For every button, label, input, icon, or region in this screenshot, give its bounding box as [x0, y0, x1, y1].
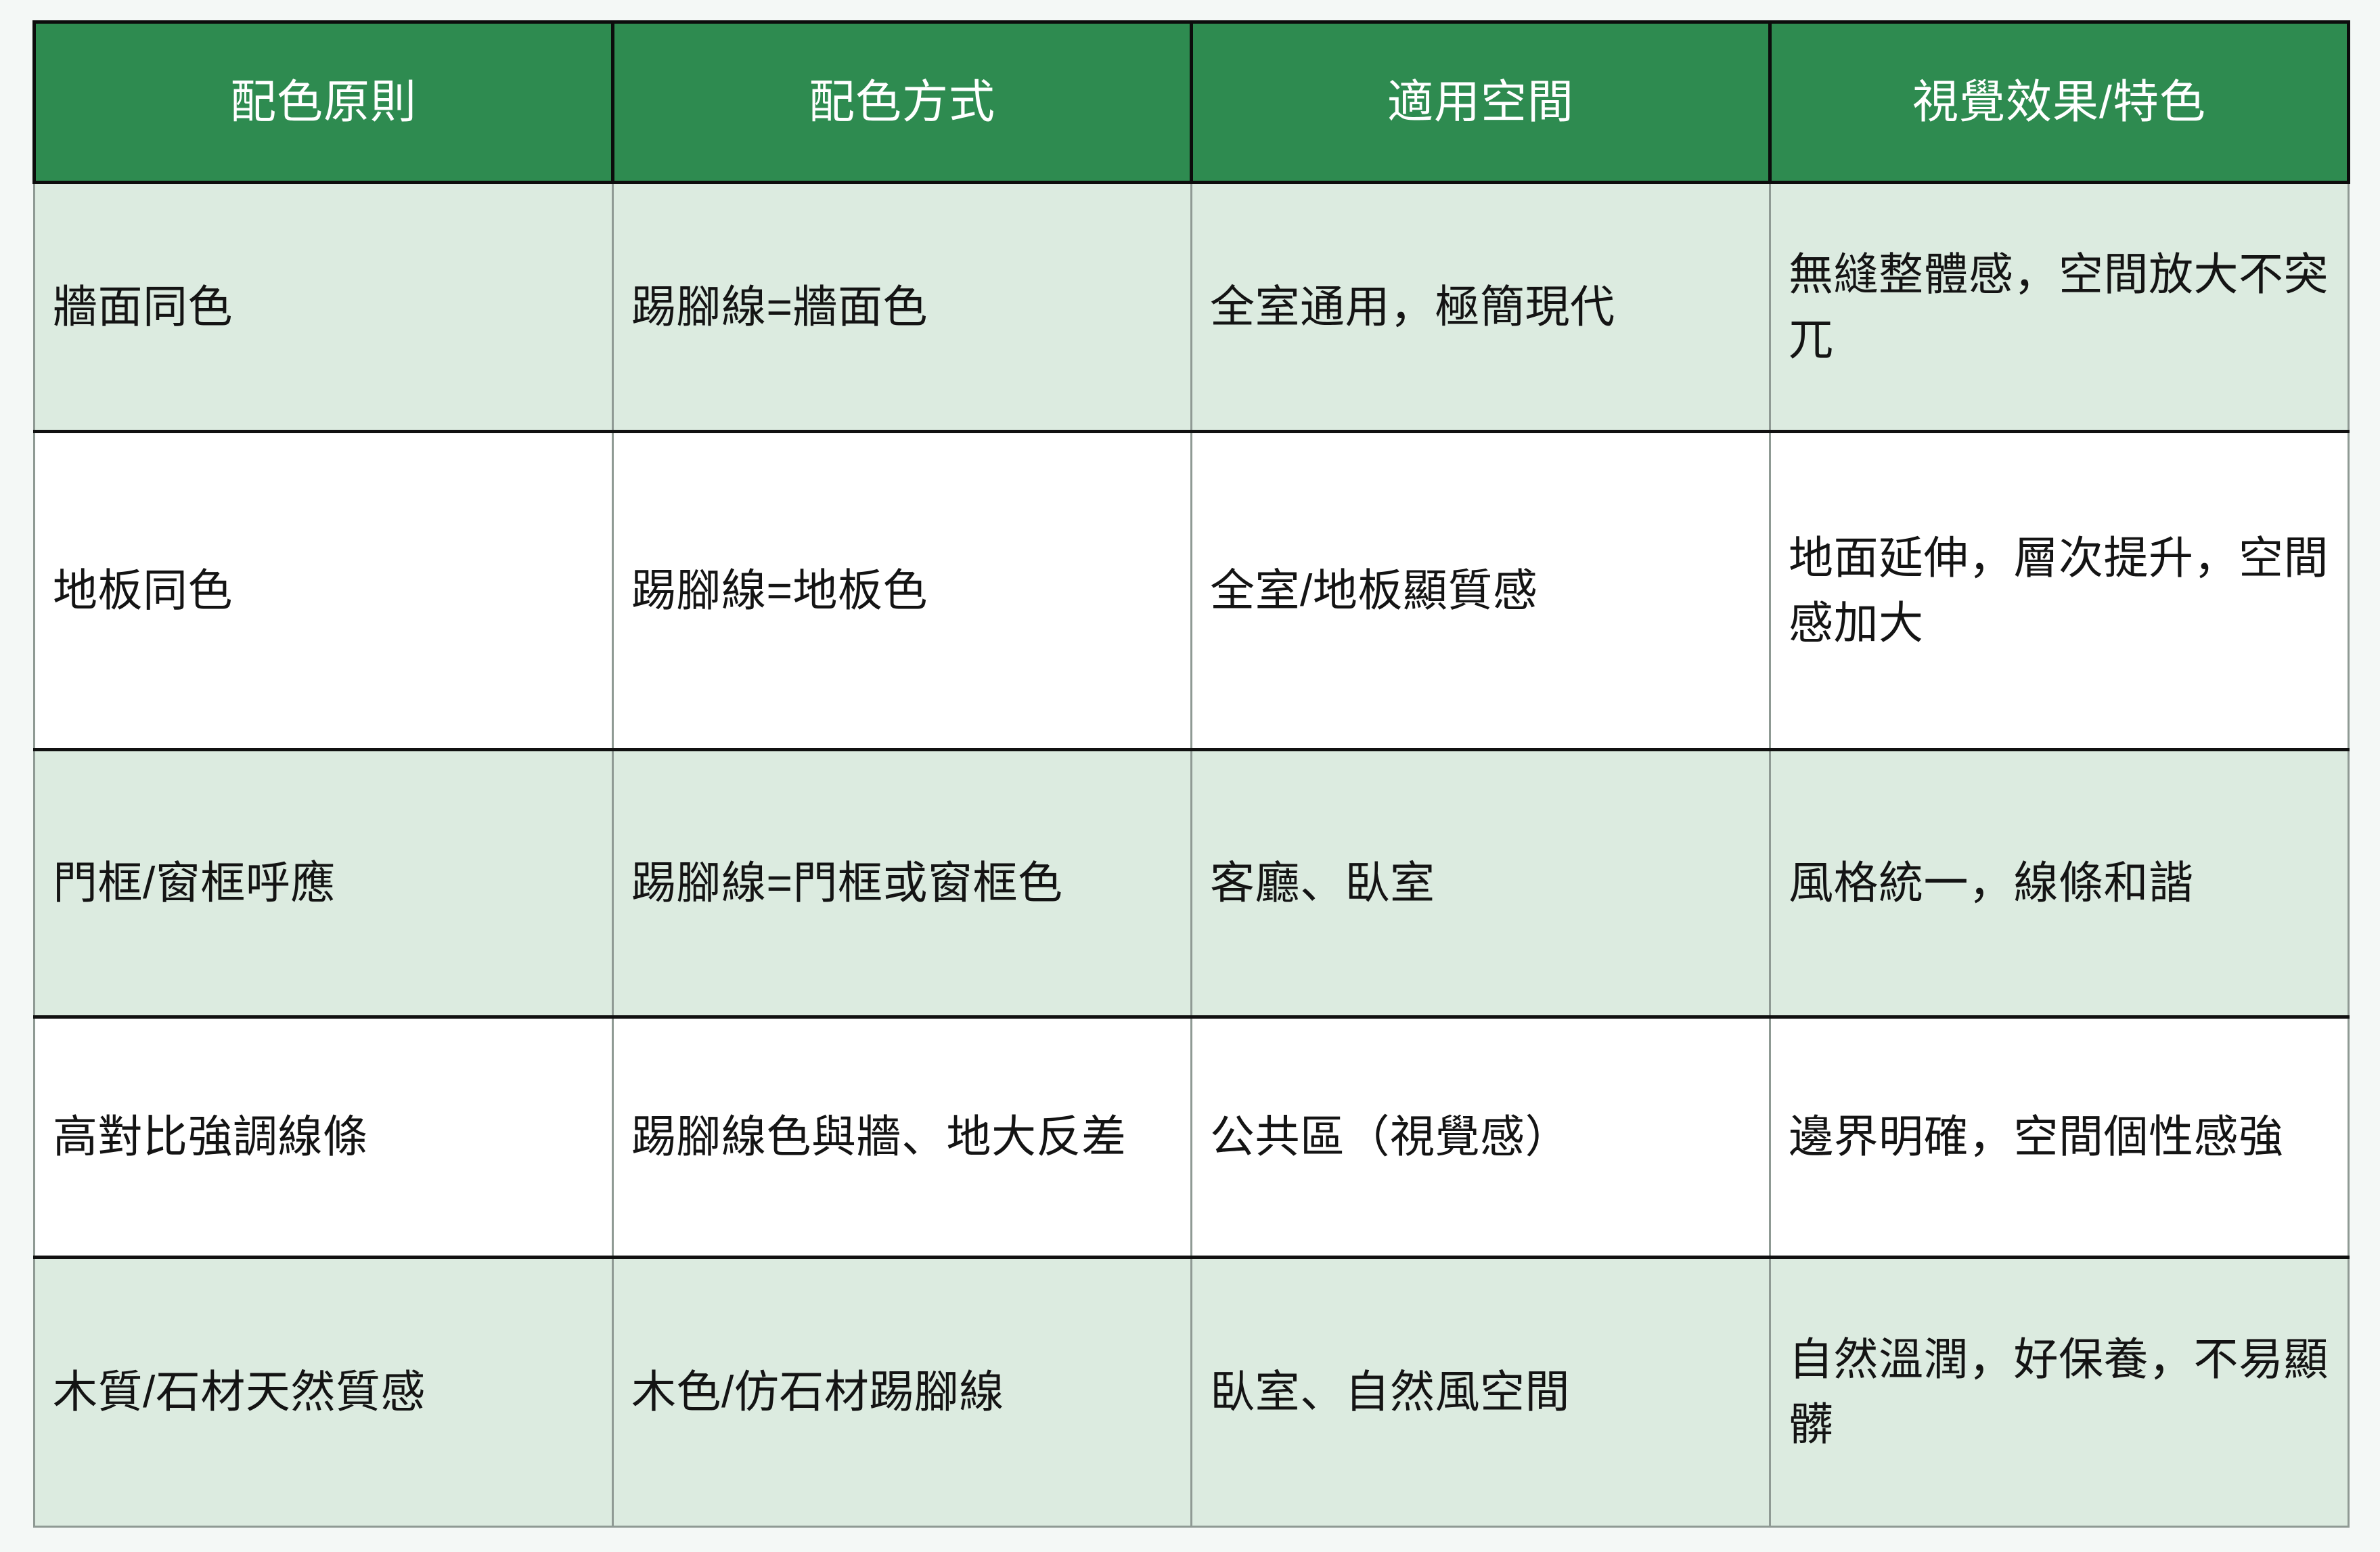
cell-principle: 牆面同色 [35, 183, 613, 432]
table-header: 配色原則 配色方式 適用空間 視覺效果/特色 [35, 22, 2349, 183]
header-row: 配色原則 配色方式 適用空間 視覺效果/特色 [35, 22, 2349, 183]
cell-principle: 木質/石材天然質感 [35, 1258, 613, 1527]
color-scheme-table: 配色原則 配色方式 適用空間 視覺效果/特色 牆面同色 踢腳線=牆面色 全室通用… [32, 20, 2350, 1528]
table-row: 牆面同色 踢腳線=牆面色 全室通用，極簡現代 無縫整體感，空間放大不突兀 [35, 183, 2349, 432]
table-body: 牆面同色 踢腳線=牆面色 全室通用，極簡現代 無縫整體感，空間放大不突兀 地板同… [35, 183, 2349, 1527]
cell-space: 臥室、自然風空間 [1192, 1258, 1770, 1527]
table-row: 木質/石材天然質感 木色/仿石材踢腳線 臥室、自然風空間 自然溫潤，好保養，不易… [35, 1258, 2349, 1527]
cell-space: 客廳、臥室 [1192, 750, 1770, 1017]
cell-principle: 門框/窗框呼應 [35, 750, 613, 1017]
cell-method: 踢腳線=門框或窗框色 [613, 750, 1192, 1017]
cell-principle: 地板同色 [35, 432, 613, 750]
cell-method: 踢腳線=牆面色 [613, 183, 1192, 432]
column-header-principle: 配色原則 [35, 22, 613, 183]
cell-principle: 高對比強調線條 [35, 1017, 613, 1258]
cell-effect: 無縫整體感，空間放大不突兀 [1770, 183, 2349, 432]
cell-method: 踢腳線=地板色 [613, 432, 1192, 750]
column-header-space: 適用空間 [1192, 22, 1770, 183]
column-header-method: 配色方式 [613, 22, 1192, 183]
cell-method: 木色/仿石材踢腳線 [613, 1258, 1192, 1527]
cell-space: 全室通用，極簡現代 [1192, 183, 1770, 432]
cell-space: 公共區（視覺感） [1192, 1017, 1770, 1258]
cell-space: 全室/地板顯質感 [1192, 432, 1770, 750]
column-header-effect: 視覺效果/特色 [1770, 22, 2349, 183]
table-row: 地板同色 踢腳線=地板色 全室/地板顯質感 地面延伸，層次提升，空間感加大 [35, 432, 2349, 750]
color-scheme-table-container: 配色原則 配色方式 適用空間 視覺效果/特色 牆面同色 踢腳線=牆面色 全室通用… [32, 20, 2347, 1525]
cell-effect: 自然溫潤，好保養，不易顯髒 [1770, 1258, 2349, 1527]
table-row: 高對比強調線條 踢腳線色與牆、地大反差 公共區（視覺感） 邊界明確，空間個性感強 [35, 1017, 2349, 1258]
cell-effect: 邊界明確，空間個性感強 [1770, 1017, 2349, 1258]
page-root: 配色原則 配色方式 適用空間 視覺效果/特色 牆面同色 踢腳線=牆面色 全室通用… [0, 0, 2380, 1552]
cell-method: 踢腳線色與牆、地大反差 [613, 1017, 1192, 1258]
cell-effect: 地面延伸，層次提升，空間感加大 [1770, 432, 2349, 750]
table-row: 門框/窗框呼應 踢腳線=門框或窗框色 客廳、臥室 風格統一，線條和諧 [35, 750, 2349, 1017]
cell-effect: 風格統一，線條和諧 [1770, 750, 2349, 1017]
